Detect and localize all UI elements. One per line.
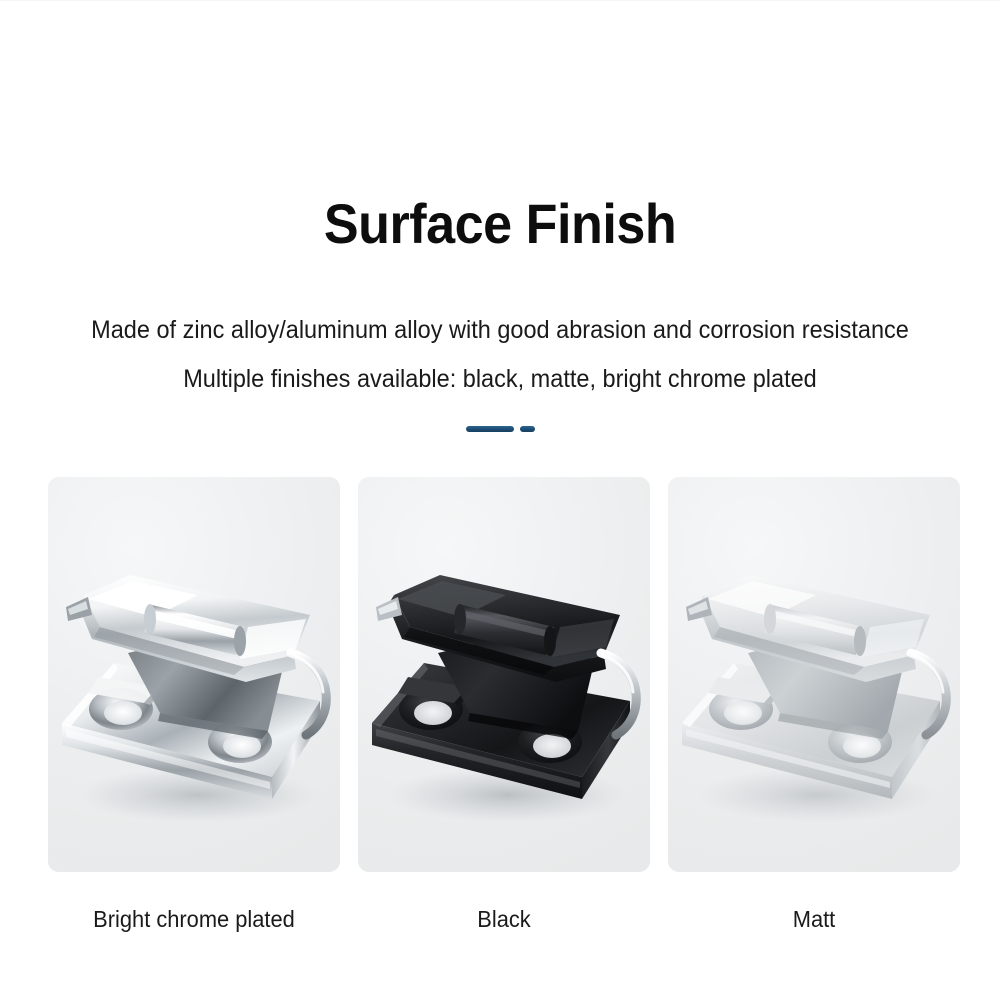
finish-card-bright-chrome[interactable]: [48, 477, 340, 872]
product-image-matt: [668, 477, 960, 872]
product-image-black: [358, 477, 650, 872]
caption-black: Black: [365, 906, 642, 946]
divider-long-dash-icon: [466, 426, 514, 432]
marketing-page: Surface Finish Made of zinc alloy/alumin…: [0, 0, 1000, 1007]
caption-matt: Matt: [675, 906, 952, 946]
top-divider-line: [0, 0, 1000, 1]
product-image-bright-chrome: [48, 477, 340, 872]
caption-bright-chrome: Bright chrome plated: [55, 906, 332, 946]
page-header: Surface Finish: [0, 196, 1000, 252]
finish-gallery: [48, 477, 960, 872]
finish-card-matt[interactable]: [668, 477, 960, 872]
subtitle-line-1: Made of zinc alloy/aluminum alloy with g…: [30, 316, 970, 345]
finish-captions: Bright chrome plated Black Matt: [48, 906, 960, 946]
page-title: Surface Finish: [35, 196, 965, 252]
divider-short-dash-icon: [520, 426, 535, 432]
decorative-divider: [0, 426, 1000, 432]
finish-card-black[interactable]: [358, 477, 650, 872]
subtitle-line-2: Multiple finishes available: black, matt…: [30, 365, 970, 394]
